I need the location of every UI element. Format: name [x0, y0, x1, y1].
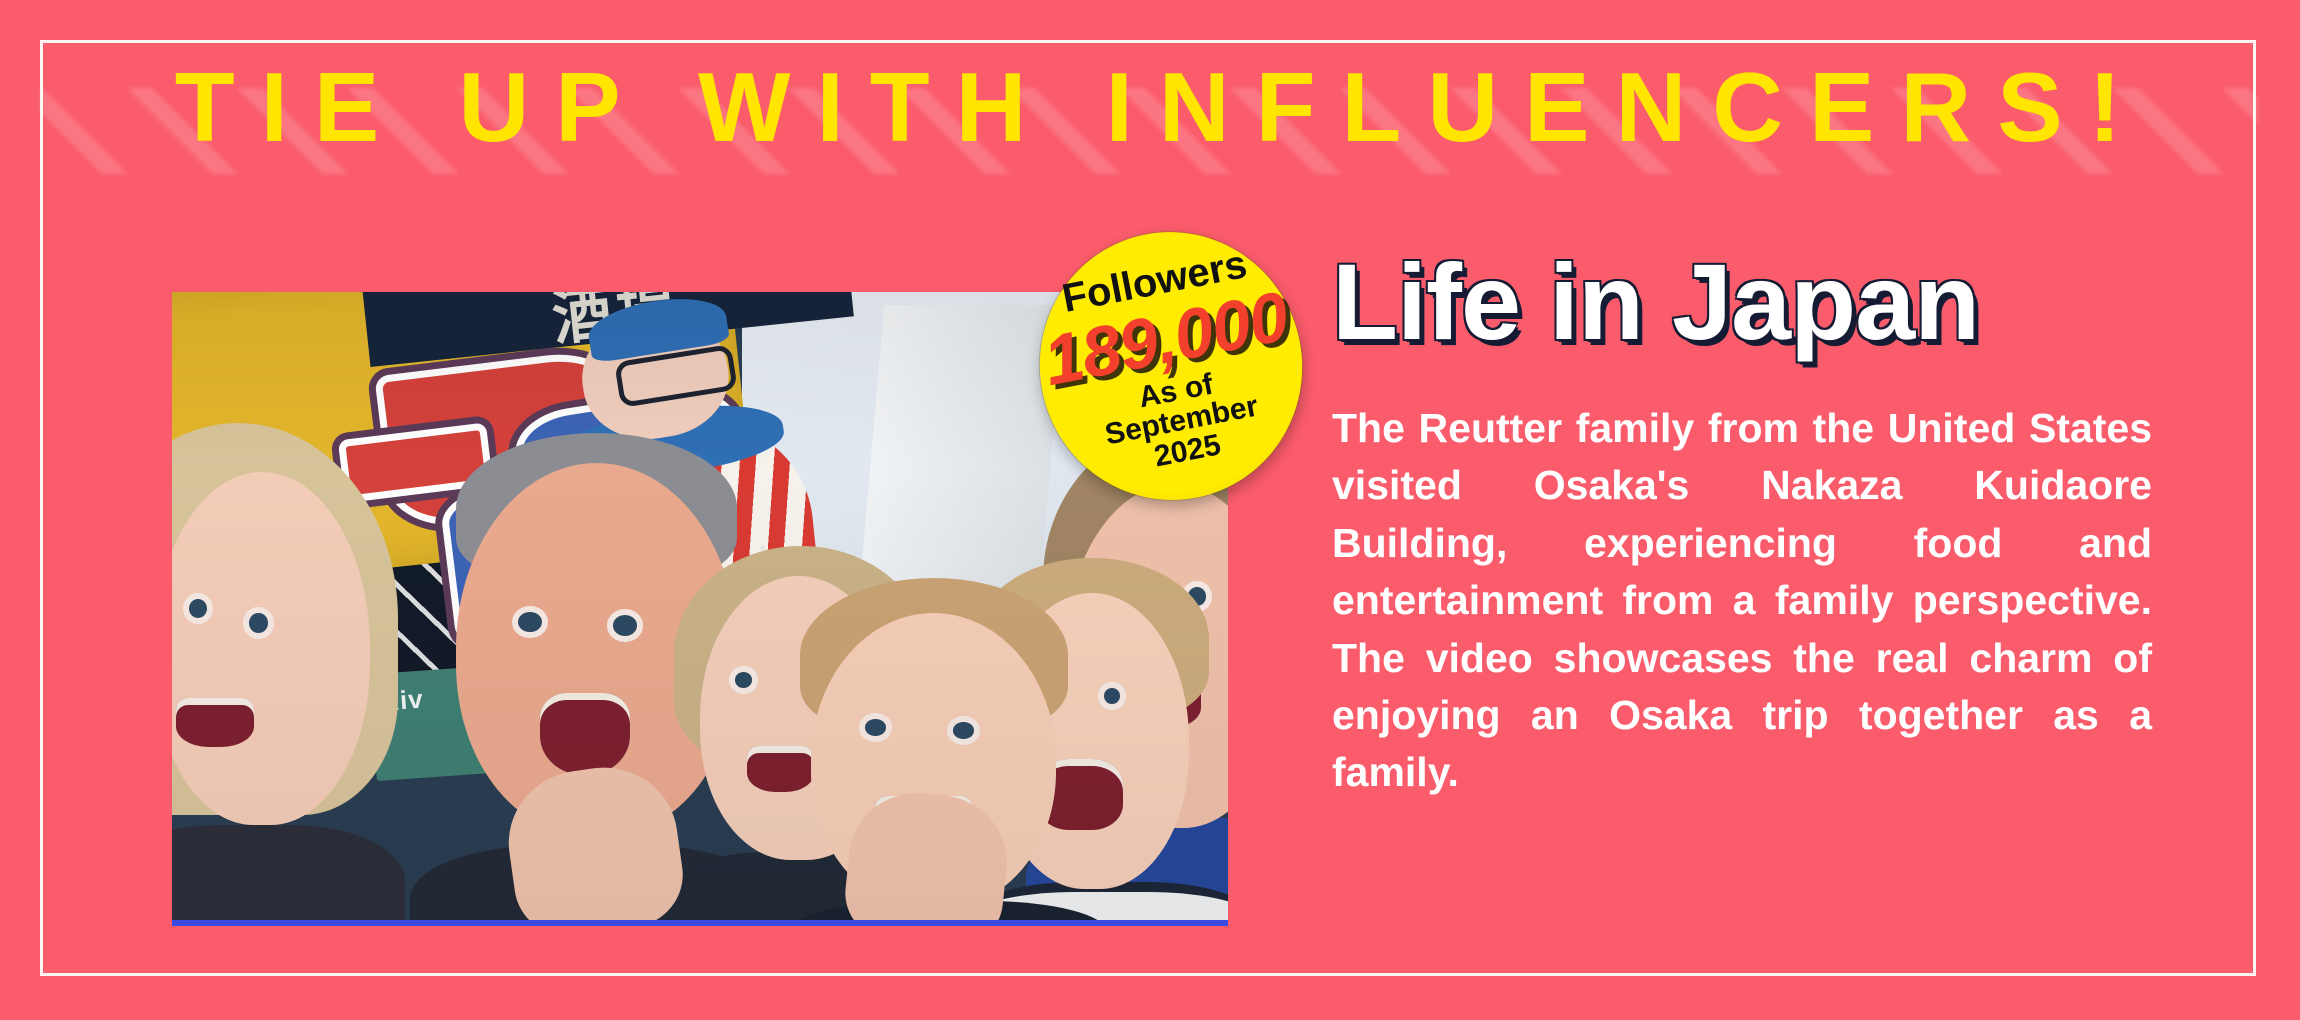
- followers-badge-content: Followers 189,000 As of September 2025: [1017, 209, 1325, 522]
- article-body: The Reutter family from the United State…: [1332, 400, 2152, 802]
- page-title: TIE UP WITH INFLUENCERS!: [40, 58, 2256, 156]
- followers-badge: Followers 189,000 As of September 2025: [1017, 209, 1325, 522]
- article-title: Life in Japan: [1332, 248, 1979, 356]
- promo-banner: TIE UP WITH INFLUENCERS! 酒場: [0, 0, 2300, 1020]
